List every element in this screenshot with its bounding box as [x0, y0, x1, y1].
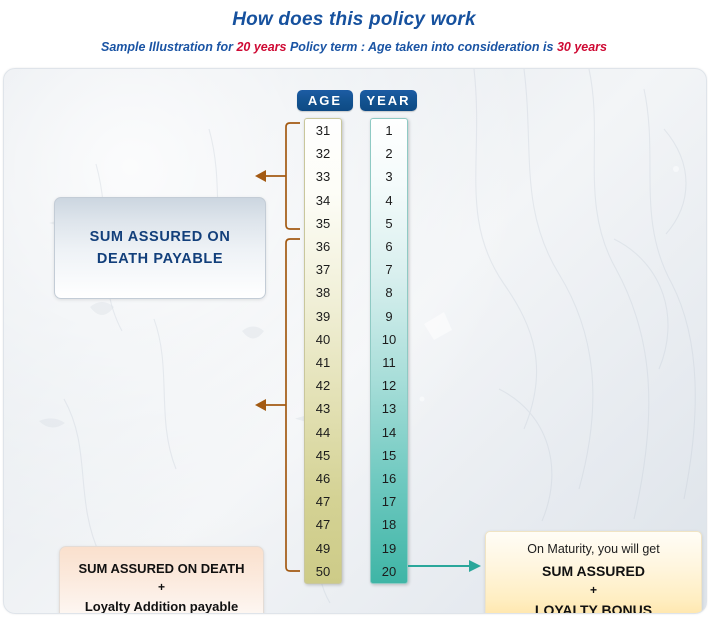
page-subtitle: Sample Illustration for 20 years Policy … — [0, 40, 708, 54]
age-cell: 47 — [305, 490, 341, 513]
subtitle-policy-term: 20 years — [236, 40, 286, 54]
page-title: How does this policy work — [0, 9, 708, 31]
age-cell: 45 — [305, 444, 341, 467]
sum-assured-on-death-payable-box: SUM ASSURED ON DEATH PAYABLE — [54, 197, 266, 299]
death-bottom-line-1: SUM ASSURED ON DEATH — [78, 558, 244, 579]
age-cell: 37 — [305, 258, 341, 281]
year-cell: 10 — [371, 328, 407, 351]
sum-assured-plus-loyalty-addition-box: SUM ASSURED ON DEATH + Loyalty Addition … — [59, 546, 264, 614]
age-cell: 31 — [305, 119, 341, 142]
age-column: 3132333435363738394041424344454647474950 — [304, 118, 342, 584]
year-cell: 9 — [371, 305, 407, 328]
subtitle-segment-prefix: Sample Illustration for — [101, 40, 236, 54]
age-cell: 41 — [305, 351, 341, 374]
age-cell: 35 — [305, 212, 341, 235]
year-cell: 16 — [371, 467, 407, 490]
year-cell: 3 — [371, 165, 407, 188]
subtitle-age: 30 years — [557, 40, 607, 54]
year-cell: 8 — [371, 281, 407, 304]
illustration-panel: SUM ASSURED ON DEATH PAYABLE SUM ASSURED… — [3, 68, 707, 614]
age-cell: 47 — [305, 513, 341, 536]
age-cell: 36 — [305, 235, 341, 258]
age-cell: 32 — [305, 142, 341, 165]
age-cell: 38 — [305, 281, 341, 304]
age-column-header-badge: AGE — [297, 90, 353, 111]
year-cell: 20 — [371, 560, 407, 583]
age-cell: 43 — [305, 397, 341, 420]
year-cell: 7 — [371, 258, 407, 281]
year-column-header-badge: YEAR — [360, 90, 417, 111]
year-cell: 2 — [371, 142, 407, 165]
subtitle-segment-middle: Policy term : Age taken into considerati… — [287, 40, 557, 54]
year-cell: 15 — [371, 444, 407, 467]
age-cell: 39 — [305, 305, 341, 328]
death-bottom-line-3: Loyalty Addition payable — [85, 596, 238, 615]
age-cell: 34 — [305, 189, 341, 212]
maturity-plus-sign: + — [590, 582, 597, 599]
year-cell: 4 — [371, 189, 407, 212]
year-column: 1234567891011121314151617181920 — [370, 118, 408, 584]
year-cell: 1 — [371, 119, 407, 142]
age-cell: 44 — [305, 421, 341, 444]
age-cell: 40 — [305, 328, 341, 351]
death-top-line-1: SUM ASSURED ON — [90, 226, 231, 248]
age-cell: 42 — [305, 374, 341, 397]
year-cell: 12 — [371, 374, 407, 397]
age-cell: 33 — [305, 165, 341, 188]
year-cell: 13 — [371, 397, 407, 420]
maturity-line-2: SUM ASSURED — [542, 560, 645, 582]
maturity-line-1: On Maturity, you will get — [527, 539, 659, 560]
page-header: How does this policy work Sample Illustr… — [0, 0, 708, 66]
year-cell: 18 — [371, 513, 407, 536]
year-cell: 11 — [371, 351, 407, 374]
death-top-line-2: DEATH PAYABLE — [97, 248, 223, 270]
year-cell: 17 — [371, 490, 407, 513]
year-cell: 5 — [371, 212, 407, 235]
year-cell: 19 — [371, 537, 407, 560]
maturity-benefit-box: On Maturity, you will get SUM ASSURED + … — [485, 531, 702, 614]
age-cell: 46 — [305, 467, 341, 490]
death-bottom-plus-sign: + — [158, 579, 165, 596]
age-cell: 50 — [305, 560, 341, 583]
year-cell: 14 — [371, 421, 407, 444]
year-cell: 6 — [371, 235, 407, 258]
age-cell: 49 — [305, 537, 341, 560]
maturity-line-4: LOYALTY BONUS — [535, 599, 652, 615]
